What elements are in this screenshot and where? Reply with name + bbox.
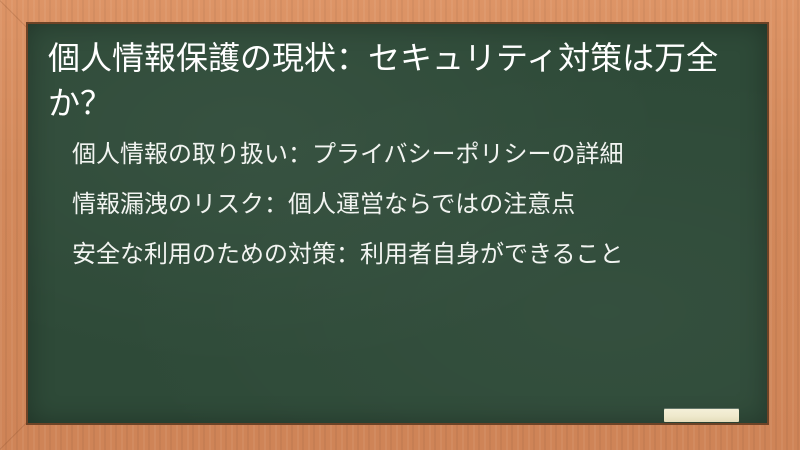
page-title: 個人情報保護の現状：セキュリティ対策は万全か？	[48, 36, 749, 126]
chalkboard-slide: 個人情報保護の現状：セキュリティ対策は万全か？ 個人情報の取り扱い：プライバシー…	[0, 0, 800, 450]
list-item: 個人情報の取り扱い：プライバシーポリシーの詳細	[72, 138, 749, 171]
topic-list: 個人情報の取り扱い：プライバシーポリシーの詳細 情報漏洩のリスク：個人運営ならで…	[48, 138, 749, 271]
chalkboard-surface: 個人情報保護の現状：セキュリティ対策は万全か？ 個人情報の取り扱い：プライバシー…	[26, 22, 769, 425]
list-item: 安全な利用のための対策：利用者自身ができること	[72, 238, 749, 271]
chalk-stick-icon	[664, 409, 739, 422]
chalkboard-content: 個人情報保護の現状：セキュリティ対策は万全か？ 個人情報の取り扱い：プライバシー…	[28, 24, 767, 423]
list-item: 情報漏洩のリスク：個人運営ならではの注意点	[72, 188, 749, 221]
